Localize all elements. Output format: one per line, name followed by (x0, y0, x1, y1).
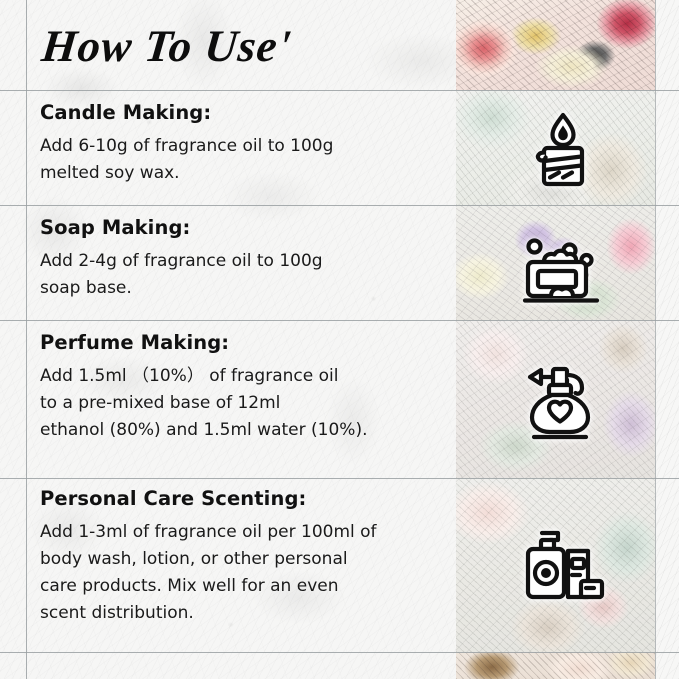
divider-rule-candle (0, 205, 679, 206)
section-body-personal-care-scenting: Add 1-3ml of fragrance oil per 100ml of … (40, 519, 444, 627)
section-heading-perfume-making: Perfume Making: (40, 331, 444, 354)
section-body-perfume-making: Add 1.5ml （10%） of fragrance oil to a pr… (40, 363, 444, 444)
section-body-candle-making: Add 6-10g of fragrance oil to 100g melte… (40, 133, 444, 187)
section-perfume-making: Perfume Making: Add 1.5ml （10%） of fragr… (40, 331, 444, 444)
section-heading-personal-care-scenting: Personal Care Scenting: (40, 487, 444, 510)
section-heading-soap-making: Soap Making: (40, 216, 444, 239)
section-soap-making: Soap Making: Add 2-4g of fragrance oil t… (40, 216, 444, 302)
divider-rule-care (0, 652, 679, 653)
section-personal-care-scenting: Personal Care Scenting: Add 1-3ml of fra… (40, 487, 444, 627)
right-edge-floral-sliver (655, 0, 679, 679)
section-heading-candle-making: Candle Making: (40, 101, 444, 124)
candle-icon (513, 106, 613, 192)
divider-rule-title (0, 90, 679, 91)
perfume-bottle-icon (513, 360, 613, 446)
page-title: How To Use' (38, 10, 446, 82)
photo-band-bottom (456, 652, 655, 679)
divider-rule-soap (0, 320, 679, 321)
section-body-soap-making: Add 2-4g of fragrance oil to 100g soap b… (40, 248, 444, 302)
divider-rule-perfume (0, 478, 679, 479)
right-vertical-rule (655, 0, 656, 679)
soap-bar-icon (513, 232, 613, 318)
personal-care-products-icon (513, 522, 613, 608)
left-vertical-rule (26, 0, 27, 679)
how-to-use-infographic: How To Use' Candle Making: Add 6-10g of … (0, 0, 679, 679)
photo-band-roses (456, 0, 655, 90)
section-candle-making: Candle Making: Add 6-10g of fragrance oi… (40, 101, 444, 187)
